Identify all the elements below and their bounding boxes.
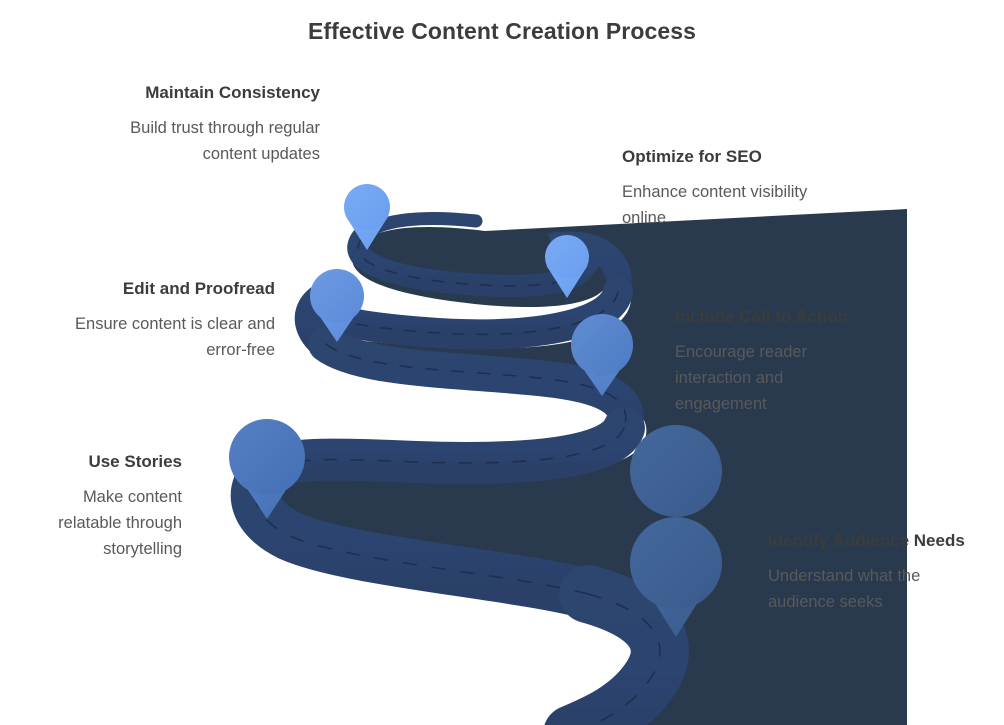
step-description-maintain-consistency: Build trust through regular content upda… bbox=[95, 115, 320, 167]
step-identify-audience-needs: Identify Audience Needs Understand what … bbox=[768, 528, 983, 615]
step-maintain-consistency: Maintain Consistency Build trust through… bbox=[95, 80, 320, 167]
step-edit-and-proofread: Edit and Proofread Ensure content is cle… bbox=[48, 276, 275, 363]
step-title-use-stories: Use Stories bbox=[25, 449, 182, 475]
step-title-include-call-to-action: Include Call to Action bbox=[675, 304, 865, 330]
step-description-identify-audience-needs: Understand what the audience seeks bbox=[768, 563, 983, 615]
step-title-identify-audience-needs: Identify Audience Needs bbox=[768, 528, 983, 554]
step-optimize-for-seo: Optimize for SEO Enhance content visibil… bbox=[622, 144, 852, 231]
step-use-stories: Use Stories Make content relatable throu… bbox=[25, 449, 182, 562]
step-include-call-to-action: Include Call to Action Encourage reader … bbox=[675, 304, 865, 417]
step-description-optimize-for-seo: Enhance content visibility online bbox=[622, 179, 852, 231]
step-description-use-stories: Make content relatable through storytell… bbox=[25, 484, 182, 562]
step-title-edit-and-proofread: Edit and Proofread bbox=[48, 276, 275, 302]
step-description-edit-and-proofread: Ensure content is clear and error-free bbox=[48, 311, 275, 363]
infographic-canvas: Effective Content Creation Process bbox=[0, 0, 1004, 725]
step-title-optimize-for-seo: Optimize for SEO bbox=[622, 144, 852, 170]
step-title-maintain-consistency: Maintain Consistency bbox=[95, 80, 320, 106]
step-description-include-call-to-action: Encourage reader interaction and engagem… bbox=[675, 339, 865, 417]
